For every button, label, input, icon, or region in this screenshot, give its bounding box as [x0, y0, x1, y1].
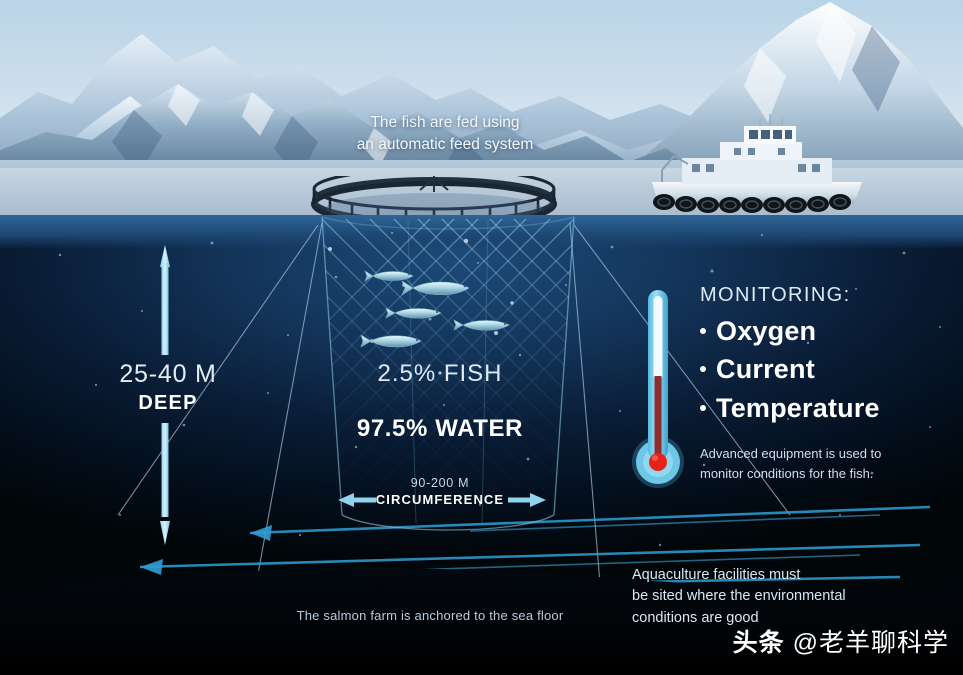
- monitoring-item-label: Temperature: [716, 389, 880, 427]
- water-percent-label: 97.5% WATER: [300, 415, 580, 443]
- fish: [361, 335, 421, 347]
- thermometer-icon: [626, 284, 690, 492]
- fish: [454, 320, 509, 330]
- monitoring-item-label: Current: [716, 350, 815, 388]
- anchor-note: The salmon farm is anchored to the sea f…: [280, 608, 580, 623]
- watermark: 头条 @老羊聊科学: [733, 623, 949, 659]
- monitoring-list: Oxygen Current Temperature: [700, 312, 880, 427]
- monitoring-note-line2: monitor conditions for the fish.: [700, 464, 950, 484]
- fish-school: [355, 262, 535, 362]
- infographic-canvas: The fish are fed using an automatic feed…: [0, 0, 963, 675]
- depth-label: DEEP: [78, 392, 258, 415]
- monitoring-title: MONITORING:: [700, 284, 851, 307]
- fish: [365, 271, 413, 281]
- monitoring-item: Temperature: [700, 389, 880, 427]
- monitoring-item-label: Oxygen: [716, 312, 816, 350]
- site-note-line1: Aquaculture facilities must: [632, 565, 902, 586]
- depth-value: 25-40 M: [78, 360, 258, 389]
- watermark-handle: @老羊聊科学: [793, 623, 949, 659]
- fish: [402, 281, 469, 295]
- service-vessel: [648, 112, 868, 216]
- bullet-icon: [700, 366, 706, 372]
- fish: [386, 308, 441, 318]
- circumference-label: CIRCUMFERENCE: [330, 492, 550, 507]
- circumference-value: 90-200 M: [330, 476, 550, 490]
- site-note-line2: be sited where the environmental: [632, 586, 902, 607]
- monitoring-item: Oxygen: [700, 312, 880, 350]
- feed-note-line2: an automatic feed system: [330, 134, 560, 156]
- fish-percent-label: 2.5% FISH: [300, 360, 580, 388]
- monitoring-item: Current: [700, 350, 880, 388]
- feed-note: The fish are fed using an automatic feed…: [330, 112, 560, 157]
- watermark-logo: 头条: [733, 623, 785, 659]
- monitoring-note-line1: Advanced equipment is used to: [700, 444, 950, 464]
- monitoring-note: Advanced equipment is used to monitor co…: [700, 444, 950, 483]
- site-note: Aquaculture facilities must be sited whe…: [632, 565, 902, 629]
- bullet-icon: [700, 328, 706, 334]
- bullet-icon: [700, 405, 706, 411]
- feed-note-line1: The fish are fed using: [330, 112, 560, 134]
